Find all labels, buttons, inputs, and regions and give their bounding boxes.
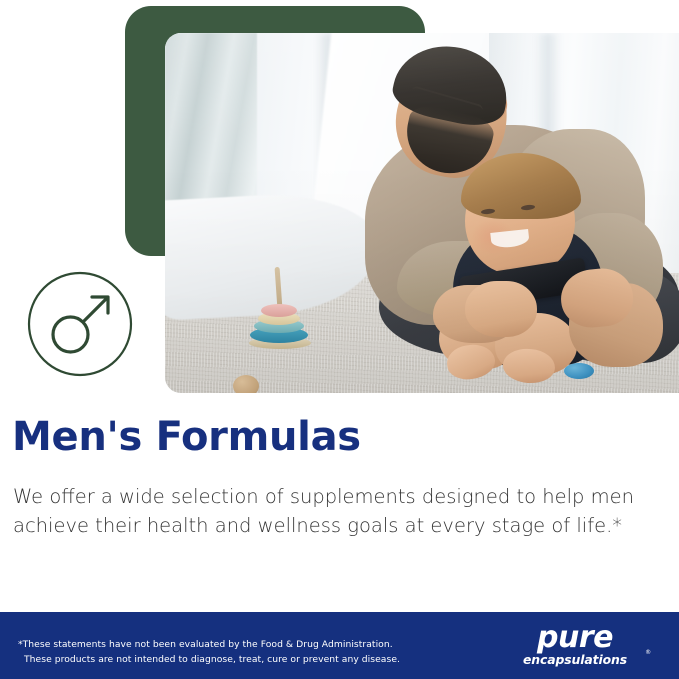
logo-wordmark-primary: pure — [505, 624, 645, 653]
page-title: Men's Formulas — [12, 417, 361, 457]
product-category-banner: Men's Formulas We offer a wide selection… — [0, 0, 679, 679]
brand-logo[interactable]: pure encapsulations ® — [505, 624, 645, 666]
wooden-toy-ball — [233, 375, 259, 393]
blue-toy-disc — [564, 363, 594, 379]
registered-trademark-icon: ® — [645, 650, 651, 656]
hero-section — [0, 0, 679, 400]
stacking-ring-pink — [261, 304, 297, 317]
logo-secondary-text: encapsulations — [523, 652, 627, 667]
child-arm — [465, 281, 537, 337]
photo-scene — [165, 33, 679, 393]
category-description: We offer a wide selection of supplements… — [13, 483, 643, 540]
disclaimer-line-2: These products are not intended to diagn… — [18, 653, 400, 667]
footer-bar: *These statements have not been evaluate… — [0, 612, 679, 679]
disclaimer-line-1: *These statements have not been evaluate… — [18, 639, 393, 650]
mars-symbol-icon — [26, 270, 134, 378]
fda-disclaimer: *These statements have not been evaluate… — [18, 624, 400, 679]
hero-photo — [165, 33, 679, 393]
logo-wordmark-secondary: encapsulations ® — [505, 654, 645, 666]
